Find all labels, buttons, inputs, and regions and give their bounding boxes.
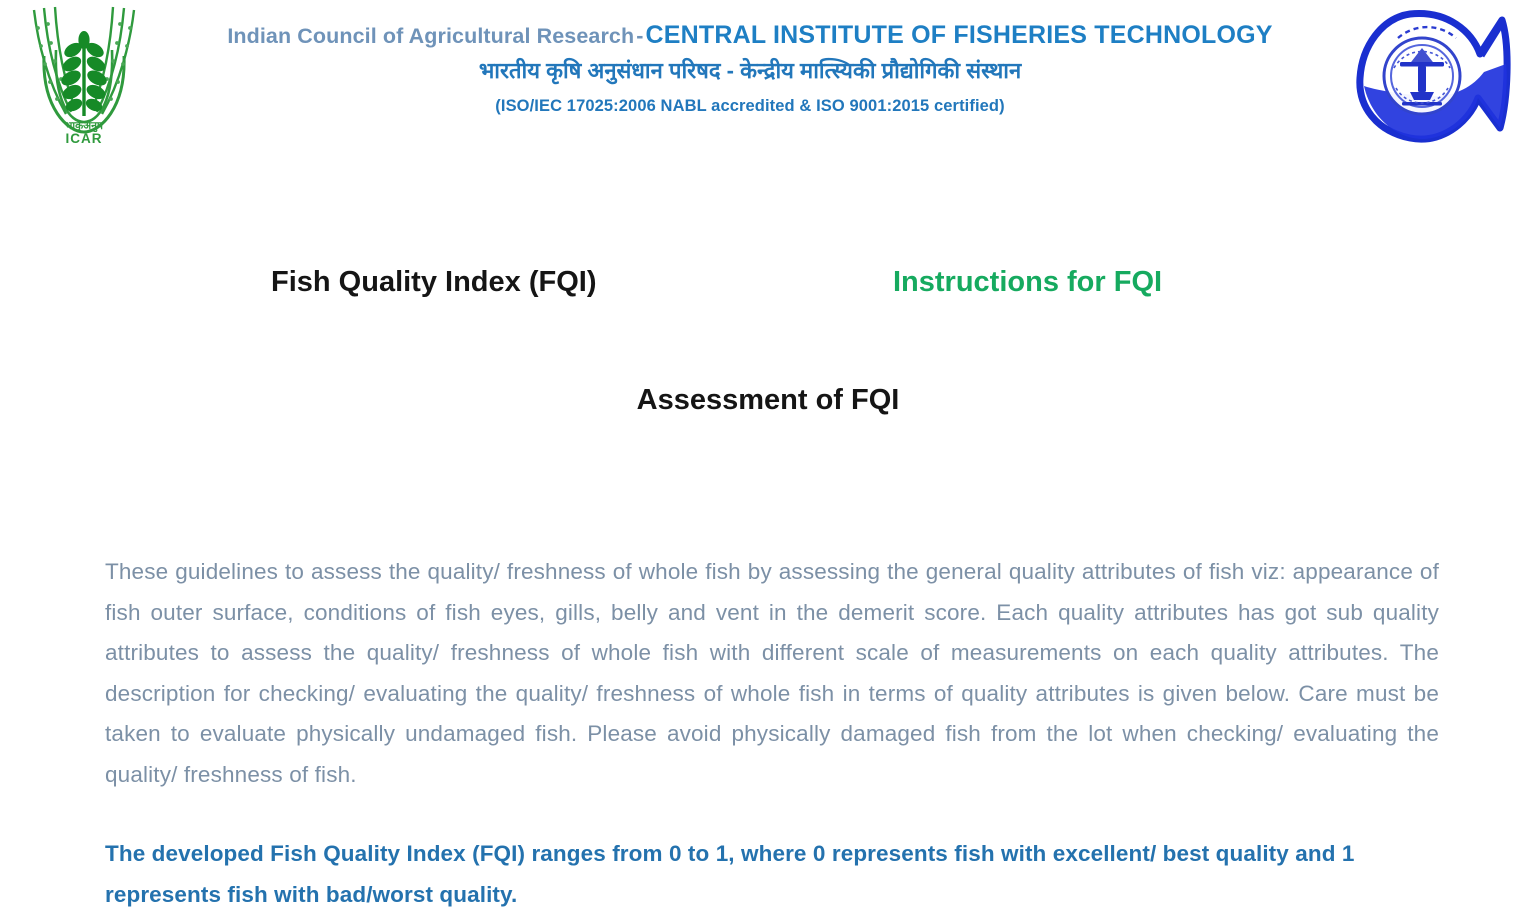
org-name-prefix: Indian Council of Agricultural Research [227,24,634,48]
org-name-separator: - [634,24,645,48]
cift-logo-icon [1352,2,1520,152]
accreditation-line: (ISO/IEC 17025:2006 NABL accredited & IS… [150,91,1350,121]
document-body: These guidelines to assess the quality/ … [105,552,1439,915]
assessment-heading: Assessment of FQI [0,384,1536,417]
instructions-heading[interactable]: Instructions for FQI [893,266,1162,299]
title-row: Fish Quality Index (FQI) Instructions fo… [0,266,1536,312]
intro-paragraph: These guidelines to assess the quality/ … [105,552,1439,795]
letterhead: भाकृअनुप ICAR Indian Council of Agricult… [0,0,1536,152]
svg-text:ICAR: ICAR [66,131,103,146]
org-name-main: CENTRAL INSTITUTE OF FISHERIES TECHNOLOG… [645,21,1272,49]
org-name-hindi: भारतीय कृषि अनुसंधान परिषद - केन्द्रीय म… [150,51,1350,91]
letterhead-text: Indian Council of Agricultural Research-… [150,20,1350,121]
icar-logo-icon: भाकृअनुप ICAR [28,4,140,148]
fqi-range-paragraph: The developed Fish Quality Index (FQI) r… [105,834,1445,915]
org-name-english: Indian Council of Agricultural Research-… [150,20,1350,51]
page-title-fqi: Fish Quality Index (FQI) [271,266,596,299]
